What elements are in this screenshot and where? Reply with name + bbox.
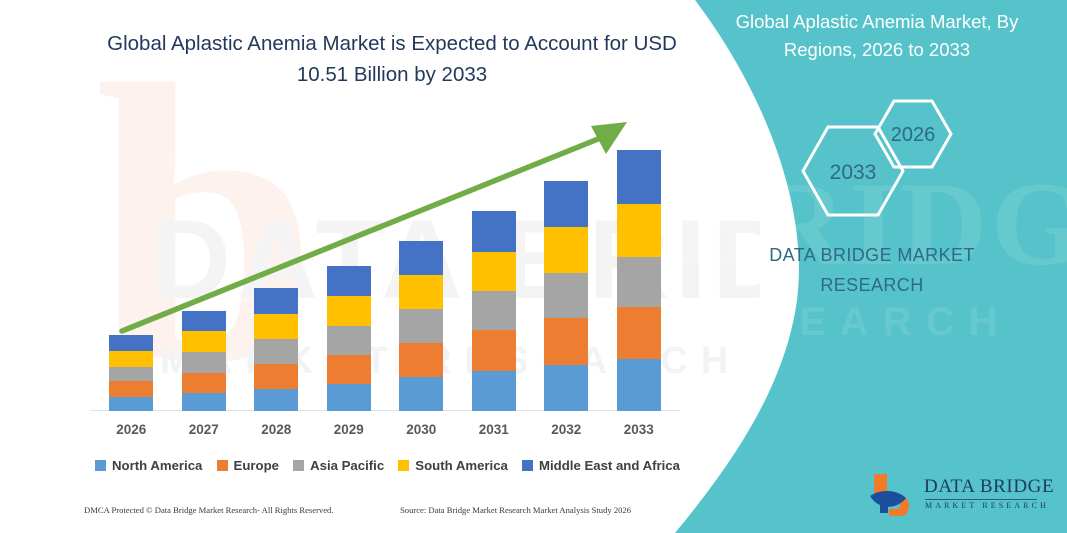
bar-segment-south-america [109,351,153,367]
bar-segment-middle-east-and-africa [327,266,371,296]
bar-segment-europe [182,373,226,393]
bar-segment-asia-pacific [254,339,298,364]
bar-2026 [109,335,153,411]
legend-item-europe[interactable]: Europe [217,458,279,473]
footer-copyright: DMCA Protected © Data Bridge Market Rese… [84,505,334,515]
logo-primary-text: DATA BRIDGE [924,476,1054,498]
x-axis-label-2026: 2026 [101,422,161,437]
company-logo: DATA BRIDGE MARKET RESEARCH [868,470,1043,522]
bar-segment-north-america [399,377,443,411]
bar-segment-asia-pacific [182,352,226,373]
bar-segment-europe [399,343,443,377]
bar-segment-north-america [182,393,226,411]
bar-segment-south-america [544,227,588,273]
legend-label: Middle East and Africa [539,458,680,473]
stacked-bar-plot [95,120,675,411]
bar-segment-asia-pacific [544,273,588,319]
bar-segment-middle-east-and-africa [544,181,588,227]
footer-source: Source: Data Bridge Market Research Mark… [400,505,631,515]
bar-segment-south-america [399,275,443,309]
bar-2028 [254,288,298,411]
x-axis-label-2031: 2031 [464,422,524,437]
panel-title: Global Aplastic Anemia Market, By Region… [707,8,1047,64]
bar-2029 [327,266,371,411]
bridge-logo-icon [868,470,920,516]
x-axis-label-2032: 2032 [536,422,596,437]
bar-segment-asia-pacific [617,257,661,307]
bar-segment-europe [617,307,661,359]
right-panel: BRIDGE RESEARCH Global Aplastic Anemia M… [667,0,1067,533]
brand-line-2: RESEARCH [820,275,923,295]
infographic-root: b DATA BRIDGE MARKET RESEARCH Global Apl… [0,0,1067,533]
bar-segment-europe [109,381,153,397]
bar-segment-europe [472,330,516,370]
bar-segment-asia-pacific [327,326,371,355]
bar-segment-middle-east-and-africa [472,211,516,251]
legend-item-middle-east-and-africa[interactable]: Middle East and Africa [522,458,680,473]
page-title: Global Aplastic Anemia Market is Expecte… [92,28,692,90]
bar-segment-south-america [327,296,371,326]
bar-segment-north-america [472,371,516,411]
bar-segment-europe [544,318,588,365]
legend-swatch [95,460,106,471]
chart-pane: b DATA BRIDGE MARKET RESEARCH Global Apl… [0,0,760,533]
bar-segment-north-america [544,365,588,411]
brand-line-1: DATA BRIDGE MARKET [769,245,975,265]
bar-segment-north-america [109,397,153,411]
svg-text:2033: 2033 [830,161,877,184]
bar-segment-south-america [617,204,661,258]
legend-item-south-america[interactable]: South America [398,458,508,473]
legend-label: North America [112,458,202,473]
bar-2031 [472,211,516,411]
bar-segment-north-america [254,389,298,411]
brand-name: DATA BRIDGE MARKET RESEARCH [727,240,1017,300]
bar-segment-europe [254,364,298,389]
bar-segment-middle-east-and-africa [617,150,661,204]
legend-label: South America [415,458,508,473]
legend-swatch [398,460,409,471]
bar-segment-asia-pacific [472,291,516,330]
x-axis-labels: 20262027202820292030203120322033 [95,422,675,442]
bar-segment-middle-east-and-africa [254,288,298,314]
x-axis-label-2028: 2028 [246,422,306,437]
bar-segment-asia-pacific [399,309,443,343]
bar-segment-middle-east-and-africa [399,241,443,275]
legend-item-north-america[interactable]: North America [95,458,202,473]
footer: DMCA Protected © Data Bridge Market Rese… [0,505,700,527]
legend-item-asia-pacific[interactable]: Asia Pacific [293,458,384,473]
right-panel-content: BRIDGE RESEARCH Global Aplastic Anemia M… [667,0,1067,533]
legend-label: Europe [234,458,279,473]
x-axis-label-2030: 2030 [391,422,451,437]
year-hexagons: 2026 2033 [772,95,972,225]
x-axis-label-2029: 2029 [319,422,379,437]
bar-segment-asia-pacific [109,367,153,381]
bar-segment-middle-east-and-africa [109,335,153,351]
legend-swatch [293,460,304,471]
bar-segment-north-america [327,384,371,411]
bar-segment-south-america [254,314,298,339]
x-axis-label-2027: 2027 [174,422,234,437]
bar-segment-north-america [617,359,661,411]
teal-watermark-research: RESEARCH [675,300,1067,345]
bar-segment-middle-east-and-africa [182,311,226,332]
legend-label: Asia Pacific [310,458,384,473]
legend-swatch [522,460,533,471]
bar-2027 [182,311,226,411]
x-axis-label-2033: 2033 [609,422,669,437]
bar-2030 [399,241,443,411]
svg-text:2026: 2026 [891,124,936,146]
bar-segment-europe [327,355,371,384]
logo-divider [925,499,1037,500]
bar-segment-south-america [472,252,516,291]
chart-legend: North AmericaEuropeAsia PacificSouth Ame… [95,455,680,475]
bar-segment-south-america [182,331,226,352]
bar-2032 [544,181,588,411]
logo-secondary-text: MARKET RESEARCH [925,501,1049,510]
bar-2033 [617,150,661,411]
legend-swatch [217,460,228,471]
